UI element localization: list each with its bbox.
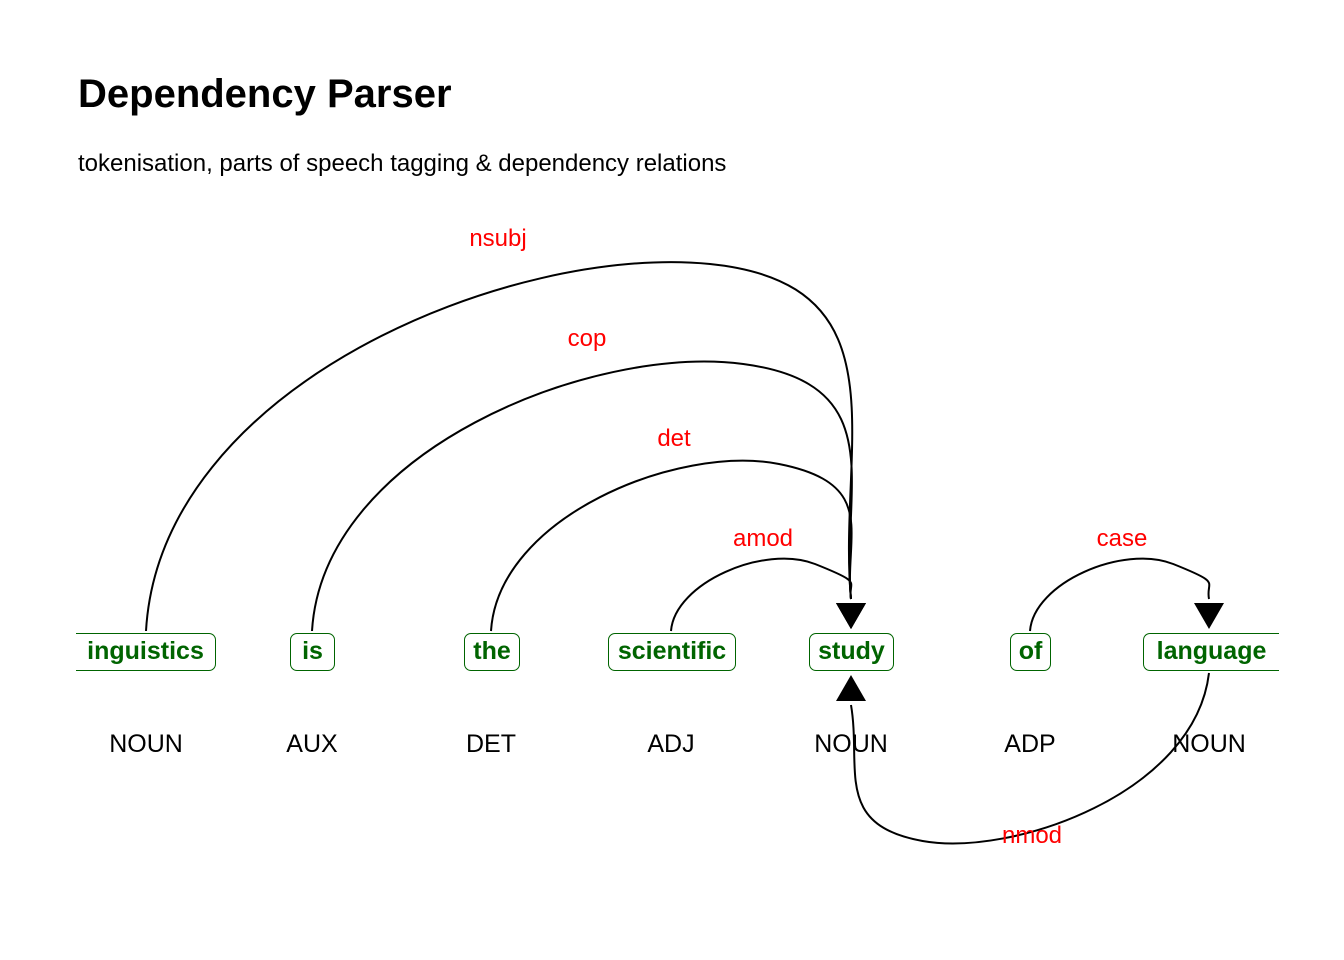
arrowhead-nmod	[836, 675, 866, 701]
pos-tag-2: DET	[466, 730, 516, 759]
token-text: is	[302, 637, 323, 665]
pos-tag-1: AUX	[286, 730, 337, 759]
dependency-parser-canvas: Dependency Parser tokenisation, parts of…	[0, 0, 1344, 960]
token-text: inguistics	[87, 637, 204, 665]
arc-nsubj	[146, 262, 852, 631]
token-5[interactable]: of	[1010, 633, 1051, 671]
token-0[interactable]: inguistics	[76, 633, 216, 671]
token-text: the	[473, 637, 511, 665]
relation-label-cop: cop	[568, 325, 607, 353]
arc-det	[491, 461, 852, 631]
token-2[interactable]: the	[464, 633, 520, 671]
pos-tag-5: ADP	[1004, 730, 1055, 759]
token-text: of	[1019, 637, 1043, 665]
pos-tag-4: NOUN	[814, 730, 888, 759]
token-text: language	[1157, 637, 1267, 665]
dependency-arc-layer	[0, 0, 1344, 960]
arrowhead-case	[1194, 603, 1224, 629]
relation-label-det: det	[657, 425, 690, 453]
token-3[interactable]: scientific	[608, 633, 736, 671]
token-1[interactable]: is	[290, 633, 335, 671]
arrowhead-amod	[836, 603, 866, 629]
token-text: study	[818, 637, 885, 665]
arc-cop	[312, 362, 852, 631]
pos-tag-3: ADJ	[647, 730, 694, 759]
pos-tag-0: NOUN	[109, 730, 183, 759]
relation-label-case: case	[1097, 525, 1148, 553]
token-6[interactable]: language	[1143, 633, 1279, 671]
token-4[interactable]: study	[809, 633, 894, 671]
relation-label-amod: amod	[733, 525, 793, 553]
arc-case	[1030, 559, 1209, 631]
relation-label-nmod: nmod	[1002, 822, 1062, 850]
token-text: scientific	[618, 637, 726, 665]
arc-amod	[671, 559, 851, 631]
pos-tag-6: NOUN	[1172, 730, 1246, 759]
relation-label-nsubj: nsubj	[469, 225, 526, 253]
